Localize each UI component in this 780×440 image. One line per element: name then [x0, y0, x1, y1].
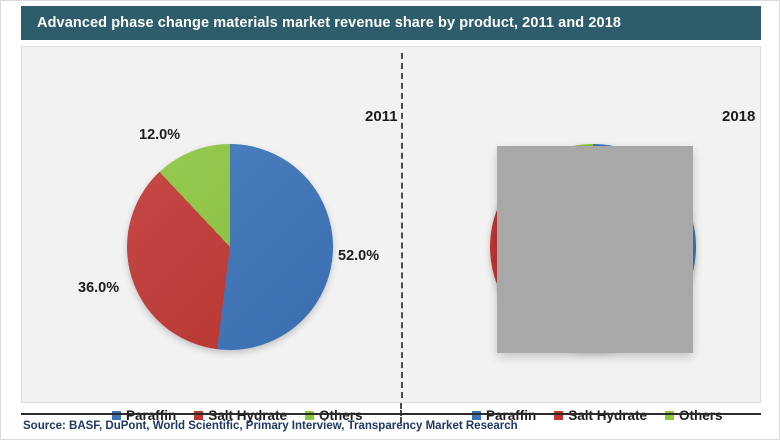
year-label-2011: 2011 [365, 108, 398, 125]
slice-label-others-2011: 12.0% [139, 127, 180, 143]
page-title: Advanced phase change materials market r… [37, 15, 621, 31]
legend-item-salt-hydrate: Salt Hydrate [554, 408, 647, 423]
slice-label-paraffin-2011: 52.0% [338, 248, 379, 264]
slice-label-salt-hydrate-2011: 36.0% [78, 280, 119, 296]
redaction-overlay-2018 [497, 146, 693, 353]
chart-figure: Advanced phase change materials market r… [0, 0, 780, 440]
panel-divider [401, 53, 403, 398]
source-note: Source: BASF, DuPont, World Scientific, … [23, 420, 518, 432]
figure-title-bar: Advanced phase change materials market r… [21, 6, 761, 40]
legend-item-others: Others [665, 408, 723, 423]
footer-rule [21, 413, 761, 415]
year-label-2018: 2018 [722, 108, 755, 125]
pie-chart-2011 [127, 144, 333, 350]
legend-label-others: Others [679, 408, 723, 423]
chart-panel: 2011 52.0% 36.0% 12.0% 2018 Paraffin Sal… [21, 46, 761, 403]
legend-label-salt-hydrate: Salt Hydrate [568, 408, 647, 423]
